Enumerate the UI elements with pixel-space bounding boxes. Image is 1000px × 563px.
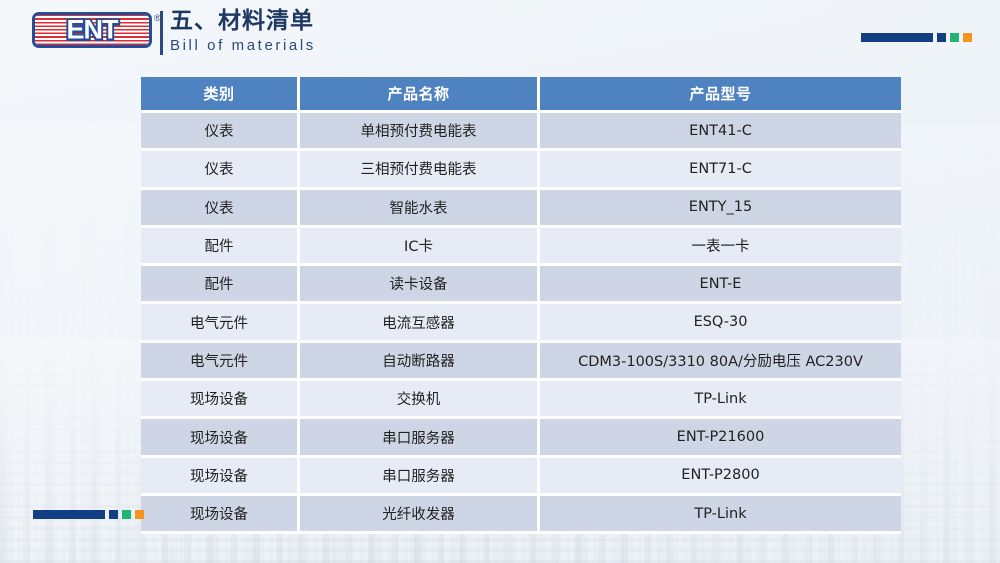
cell-product-model: ENT71-C [540, 151, 901, 189]
table-row: 仪表三相预付费电能表ENT71-C [141, 151, 901, 189]
table-row: 现场设备串口服务器ENT-P2800 [141, 458, 901, 496]
cell-product-name: 自动断路器 [300, 343, 540, 381]
cell-category: 现场设备 [141, 381, 300, 419]
table-row: 现场设备串口服务器ENT-P21600 [141, 419, 901, 457]
cell-product-name: 单相预付费电能表 [300, 113, 540, 151]
table-row: 配件读卡设备ENT-E [141, 266, 901, 304]
cell-product-name: 三相预付费电能表 [300, 151, 540, 189]
slide-header: ENT ENT ® 五、材料清单 Bill of materials [0, 0, 1000, 66]
cell-product-name: 智能水表 [300, 190, 540, 228]
cell-product-model: ESQ-30 [540, 304, 901, 342]
cell-product-name: IC卡 [300, 228, 540, 266]
decoration-square-orange [963, 33, 972, 42]
decoration-square-green [122, 510, 131, 519]
cell-product-model: ENT-P21600 [540, 419, 901, 457]
column-header-category: 类别 [141, 77, 300, 113]
cell-category: 电气元件 [141, 304, 300, 342]
bill-of-materials-table-wrapper: 类别 产品名称 产品型号 仪表单相预付费电能表ENT41-C仪表三相预付费电能表… [141, 77, 901, 534]
title-block: 五、材料清单 Bill of materials [170, 8, 316, 56]
table-row: 现场设备交换机TP-Link [141, 381, 901, 419]
cell-product-model: TP-Link [540, 381, 901, 419]
ent-logo-mark: ENT ENT [32, 12, 152, 48]
cell-category: 配件 [141, 228, 300, 266]
cell-category: 仪表 [141, 190, 300, 228]
table-row: 现场设备光纤收发器TP-Link [141, 496, 901, 534]
decoration-bar [861, 33, 933, 42]
decoration-square-navy [937, 33, 946, 42]
table-row: 仪表单相预付费电能表ENT41-C [141, 113, 901, 151]
cell-category: 配件 [141, 266, 300, 304]
bill-of-materials-table: 类别 产品名称 产品型号 仪表单相预付费电能表ENT41-C仪表三相预付费电能表… [141, 77, 901, 534]
decoration-top-right [861, 33, 972, 42]
decoration-square-green [950, 33, 959, 42]
cell-product-model: CDM3-100S/3310 80A/分励电压 AC230V [540, 343, 901, 381]
decoration-bottom-left [33, 510, 144, 519]
cell-product-name: 串口服务器 [300, 458, 540, 496]
column-header-product-model: 产品型号 [540, 77, 901, 113]
cell-product-name: 读卡设备 [300, 266, 540, 304]
cell-product-model: TP-Link [540, 496, 901, 534]
cell-product-name: 交换机 [300, 381, 540, 419]
cell-product-model: ENT-E [540, 266, 901, 304]
cell-category: 现场设备 [141, 496, 300, 534]
cell-category: 仪表 [141, 113, 300, 151]
cell-product-name: 电流互感器 [300, 304, 540, 342]
table-row: 电气元件自动断路器CDM3-100S/3310 80A/分励电压 AC230V [141, 343, 901, 381]
cell-product-model: 一表一卡 [540, 228, 901, 266]
cell-product-model: ENT41-C [540, 113, 901, 151]
cell-category: 现场设备 [141, 458, 300, 496]
cell-category: 现场设备 [141, 419, 300, 457]
cell-product-model: ENTY_15 [540, 190, 901, 228]
logo-letters-fill: ENT [35, 15, 149, 46]
cell-product-name: 光纤收发器 [300, 496, 540, 534]
decoration-bar [33, 510, 105, 519]
table-head: 类别 产品名称 产品型号 [141, 77, 901, 113]
cell-category: 仪表 [141, 151, 300, 189]
decoration-square-navy [109, 510, 118, 519]
brand-logo: ENT ENT ® [32, 12, 161, 48]
decoration-square-orange [135, 510, 144, 519]
page-title: 五、材料清单 [170, 8, 316, 35]
table-header-row: 类别 产品名称 产品型号 [141, 77, 901, 113]
column-header-product-name: 产品名称 [300, 77, 540, 113]
cell-category: 电气元件 [141, 343, 300, 381]
table-row: 仪表智能水表ENTY_15 [141, 190, 901, 228]
cell-product-name: 串口服务器 [300, 419, 540, 457]
table-body: 仪表单相预付费电能表ENT41-C仪表三相预付费电能表ENT71-C仪表智能水表… [141, 113, 901, 534]
table-row: 电气元件电流互感器ESQ-30 [141, 304, 901, 342]
page-subtitle: Bill of materials [170, 36, 316, 56]
cell-product-model: ENT-P2800 [540, 458, 901, 496]
title-divider [160, 11, 163, 55]
table-row: 配件IC卡一表一卡 [141, 228, 901, 266]
